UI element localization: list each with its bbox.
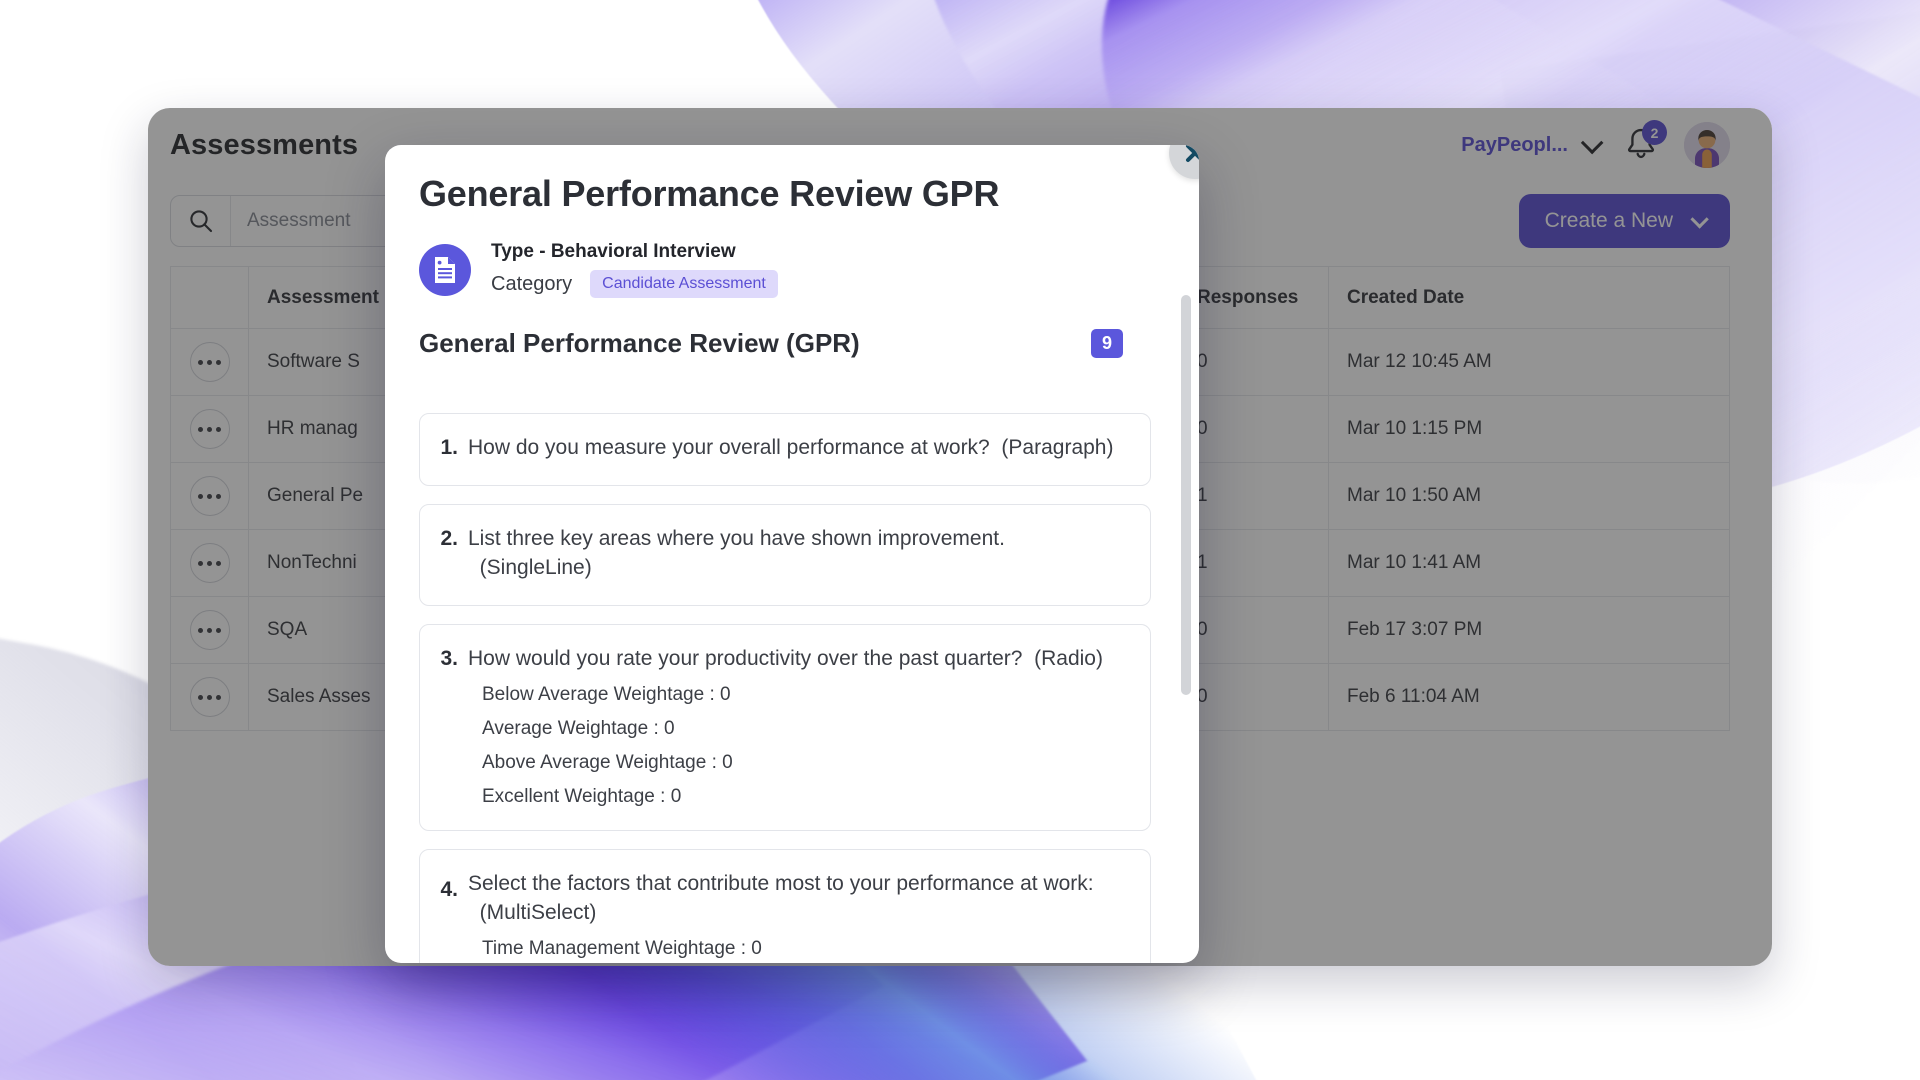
search-icon-cell[interactable] bbox=[171, 196, 231, 246]
question-option: Average Weightage : 0 bbox=[482, 718, 1128, 740]
question-option: Excellent Weightage : 0 bbox=[482, 786, 1128, 808]
question-head: 3 How would you rate your productivity o… bbox=[436, 645, 1128, 674]
close-icon bbox=[1184, 145, 1199, 164]
question-number: 1 bbox=[436, 436, 458, 460]
question-number: 3 bbox=[436, 647, 458, 671]
modal-meta: Type - Behavioral Interview Category Can… bbox=[419, 241, 1165, 298]
tenant-name: PayPeopl... bbox=[1461, 134, 1568, 157]
modal-meta-lines: Type - Behavioral Interview Category Can… bbox=[491, 241, 778, 298]
question-text-wrap: How would you rate your productivity ove… bbox=[468, 645, 1103, 674]
row-menu-cell[interactable] bbox=[171, 530, 249, 597]
question-number: 4 bbox=[436, 878, 458, 902]
question-text: How do you measure your overall performa… bbox=[468, 436, 990, 459]
question-type: (Radio) bbox=[1022, 647, 1103, 670]
question-head: 2 List three key areas where you have sh… bbox=[436, 525, 1128, 583]
row-menu-icon[interactable] bbox=[190, 409, 230, 449]
document-icon bbox=[419, 244, 471, 296]
question-head: 1 How do you measure your overall perfor… bbox=[436, 434, 1128, 463]
question-number: 2 bbox=[436, 527, 458, 551]
row-menu-icon[interactable] bbox=[190, 677, 230, 717]
question-count-badge: 9 bbox=[1091, 329, 1123, 358]
category-label: Category bbox=[491, 273, 572, 296]
question-type: (MultiSelect) bbox=[468, 901, 596, 924]
cell-responses: 0 bbox=[1179, 597, 1329, 664]
search-icon bbox=[187, 207, 215, 235]
question-options: Below Average Weightage : 0 Average Weig… bbox=[482, 684, 1128, 808]
assessment-type: Type - Behavioral Interview bbox=[491, 241, 778, 263]
assessment-category-row: Category Candidate Assessment bbox=[491, 270, 778, 298]
row-menu-icon[interactable] bbox=[190, 610, 230, 650]
question-text: Select the factors that contribute most … bbox=[468, 872, 1094, 895]
question-card: 4 Select the factors that contribute mos… bbox=[419, 849, 1151, 963]
page-title: Assessments bbox=[170, 129, 358, 162]
row-menu-cell[interactable] bbox=[171, 597, 249, 664]
th-created-date[interactable]: Created Date bbox=[1329, 267, 1730, 329]
question-options: Time Management Weightage : 0 Skill Deve… bbox=[482, 938, 1128, 963]
create-new-button[interactable]: Create a New bbox=[1519, 194, 1730, 248]
questions-list[interactable]: 1 How do you measure your overall perfor… bbox=[419, 413, 1185, 963]
cell-created: Feb 17 3:07 PM bbox=[1329, 597, 1730, 664]
th-responses[interactable]: Responses bbox=[1179, 267, 1329, 329]
question-text-wrap: List three key areas where you have show… bbox=[468, 525, 1128, 583]
cell-created: Mar 10 1:41 AM bbox=[1329, 530, 1730, 597]
row-menu-cell[interactable] bbox=[171, 396, 249, 463]
avatar-illustration bbox=[1684, 122, 1730, 168]
section-title: General Performance Review (GPR) bbox=[419, 328, 860, 359]
row-menu-icon[interactable] bbox=[190, 543, 230, 583]
th-menu bbox=[171, 267, 249, 329]
question-text-wrap: Select the factors that contribute most … bbox=[468, 870, 1128, 928]
cell-responses: 0 bbox=[1179, 329, 1329, 396]
chevron-down-icon bbox=[1581, 132, 1604, 155]
chevron-down-icon bbox=[1690, 210, 1708, 228]
question-type: (SingleLine) bbox=[468, 556, 592, 579]
question-option: Time Management Weightage : 0 bbox=[482, 938, 1128, 960]
cell-created: Mar 10 1:15 PM bbox=[1329, 396, 1730, 463]
cell-responses: 1 bbox=[1179, 463, 1329, 530]
section-header: General Performance Review (GPR) 9 bbox=[419, 328, 1165, 359]
cell-created: Mar 10 1:50 AM bbox=[1329, 463, 1730, 530]
row-menu-cell[interactable] bbox=[171, 463, 249, 530]
notifications-button[interactable]: 2 bbox=[1624, 127, 1658, 163]
modal-scrollbar-thumb[interactable] bbox=[1181, 295, 1191, 695]
document-icon-glyph bbox=[431, 255, 459, 285]
question-card: 1 How do you measure your overall perfor… bbox=[419, 413, 1151, 486]
modal-title: General Performance Review GPR bbox=[419, 173, 1165, 215]
cell-responses: 0 bbox=[1179, 396, 1329, 463]
row-menu-cell[interactable] bbox=[171, 664, 249, 731]
cell-created: Feb 6 11:04 AM bbox=[1329, 664, 1730, 731]
avatar[interactable] bbox=[1684, 122, 1730, 168]
assessment-detail-modal: General Performance Review GPR Type - Be… bbox=[385, 145, 1199, 963]
row-menu-icon[interactable] bbox=[190, 476, 230, 516]
cell-responses: 0 bbox=[1179, 664, 1329, 731]
question-option: Above Average Weightage : 0 bbox=[482, 752, 1128, 774]
cell-created: Mar 12 10:45 AM bbox=[1329, 329, 1730, 396]
modal-scrollbar[interactable] bbox=[1181, 295, 1191, 935]
header-actions: PayPeopl... 2 bbox=[1461, 122, 1730, 168]
cell-responses: 1 bbox=[1179, 530, 1329, 597]
question-text-wrap: How do you measure your overall performa… bbox=[468, 434, 1113, 463]
category-pill: Candidate Assessment bbox=[590, 270, 778, 298]
tenant-switcher[interactable]: PayPeopl... bbox=[1461, 134, 1598, 157]
notification-badge: 2 bbox=[1642, 120, 1667, 145]
question-card: 2 List three key areas where you have sh… bbox=[419, 504, 1151, 606]
question-type: (Paragraph) bbox=[990, 436, 1114, 459]
question-card: 3 How would you rate your productivity o… bbox=[419, 624, 1151, 831]
question-head: 4 Select the factors that contribute mos… bbox=[436, 870, 1128, 928]
question-text: List three key areas where you have show… bbox=[468, 527, 1005, 550]
create-new-label: Create a New bbox=[1545, 209, 1673, 233]
row-menu-cell[interactable] bbox=[171, 329, 249, 396]
question-option: Below Average Weightage : 0 bbox=[482, 684, 1128, 706]
question-text: How would you rate your productivity ove… bbox=[468, 647, 1022, 670]
row-menu-icon[interactable] bbox=[190, 342, 230, 382]
